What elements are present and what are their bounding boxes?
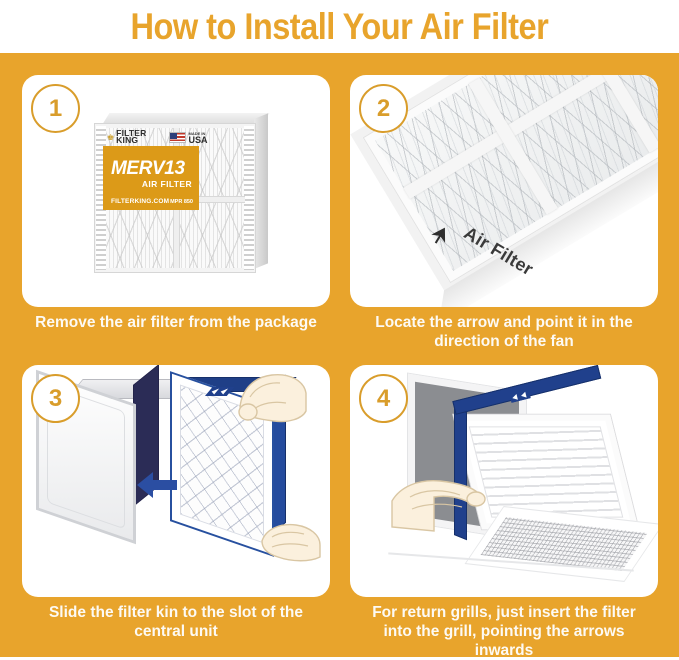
step-caption-3: Slide the filter kin to the slot of the … [22,603,330,641]
header-band: How to Install Your Air Filter [0,0,679,53]
crown-icon: ♚ [107,133,114,142]
step-badge-3: 3 [31,374,80,423]
infographic-root: How to Install Your Air Filter [0,0,679,657]
grill-filter-arrow-icon [508,385,530,399]
slide-direction-arrow-icon [135,470,179,505]
step-caption-1: Remove the air filter from the package [22,313,330,332]
step-panel-2: Air Filter 2 Locate the arrow and point … [350,75,658,360]
hand-upper-icon [232,367,308,438]
filter-front-face: ♚ FILTER KING MADE IN USA [94,123,256,273]
made-in-usa-block: MADE IN USA [169,131,208,143]
filter-right-edge [244,126,254,270]
merv13-filter-product: ♚ FILTER KING MADE IN USA [94,113,269,275]
hand-lower-icon [258,517,322,568]
brand-row: ♚ FILTER KING MADE IN USA [107,129,252,145]
website-text: FILTERKING.COM [111,198,169,205]
step-panel-3: 3 Slide the filter kin to the slot of th… [22,365,330,650]
mpr-text: MPR 850 [170,199,193,205]
step-1-card: ♚ FILTER KING MADE IN USA [22,75,330,307]
step-panel-4: 4 For return grills, just insert the fil… [350,365,658,650]
step-badge-1: 1 [31,84,80,133]
step-panel-1: ♚ FILTER KING MADE IN USA [22,75,330,360]
step-badge-2: 2 [359,84,408,133]
step-3-card: 3 [22,365,330,597]
step-caption-2: Locate the arrow and point it in the dir… [350,313,658,351]
steps-grid: ♚ FILTER KING MADE IN USA [0,53,679,657]
product-label-sticker: MERV13 AIR FILTER FILTERKING.COM MPR 850 [103,146,199,210]
product-type-text: AIR FILTER [142,179,192,189]
usa-flag-icon [169,132,186,143]
grill-louvers [469,426,624,517]
step-4-card: 4 [350,365,658,597]
hand-inserting-filter-icon [390,457,486,538]
filter-corner-mesh [375,75,658,271]
step-badge-4: 4 [359,374,408,423]
step-caption-4: For return grills, just insert the filte… [350,603,658,660]
page-title: How to Install Your Air Filter [131,6,549,48]
brand-line-2: KING [116,135,138,145]
step-2-card: Air Filter 2 [350,75,658,307]
brand-mark: FILTER KING [116,130,146,145]
filter-side-face [254,113,268,269]
made-in-usa-text: MADE IN USA [189,131,208,143]
grill-floor-mesh [481,517,648,571]
country-label: USA [189,137,208,143]
merv-rating-text: MERV13 [111,158,185,180]
